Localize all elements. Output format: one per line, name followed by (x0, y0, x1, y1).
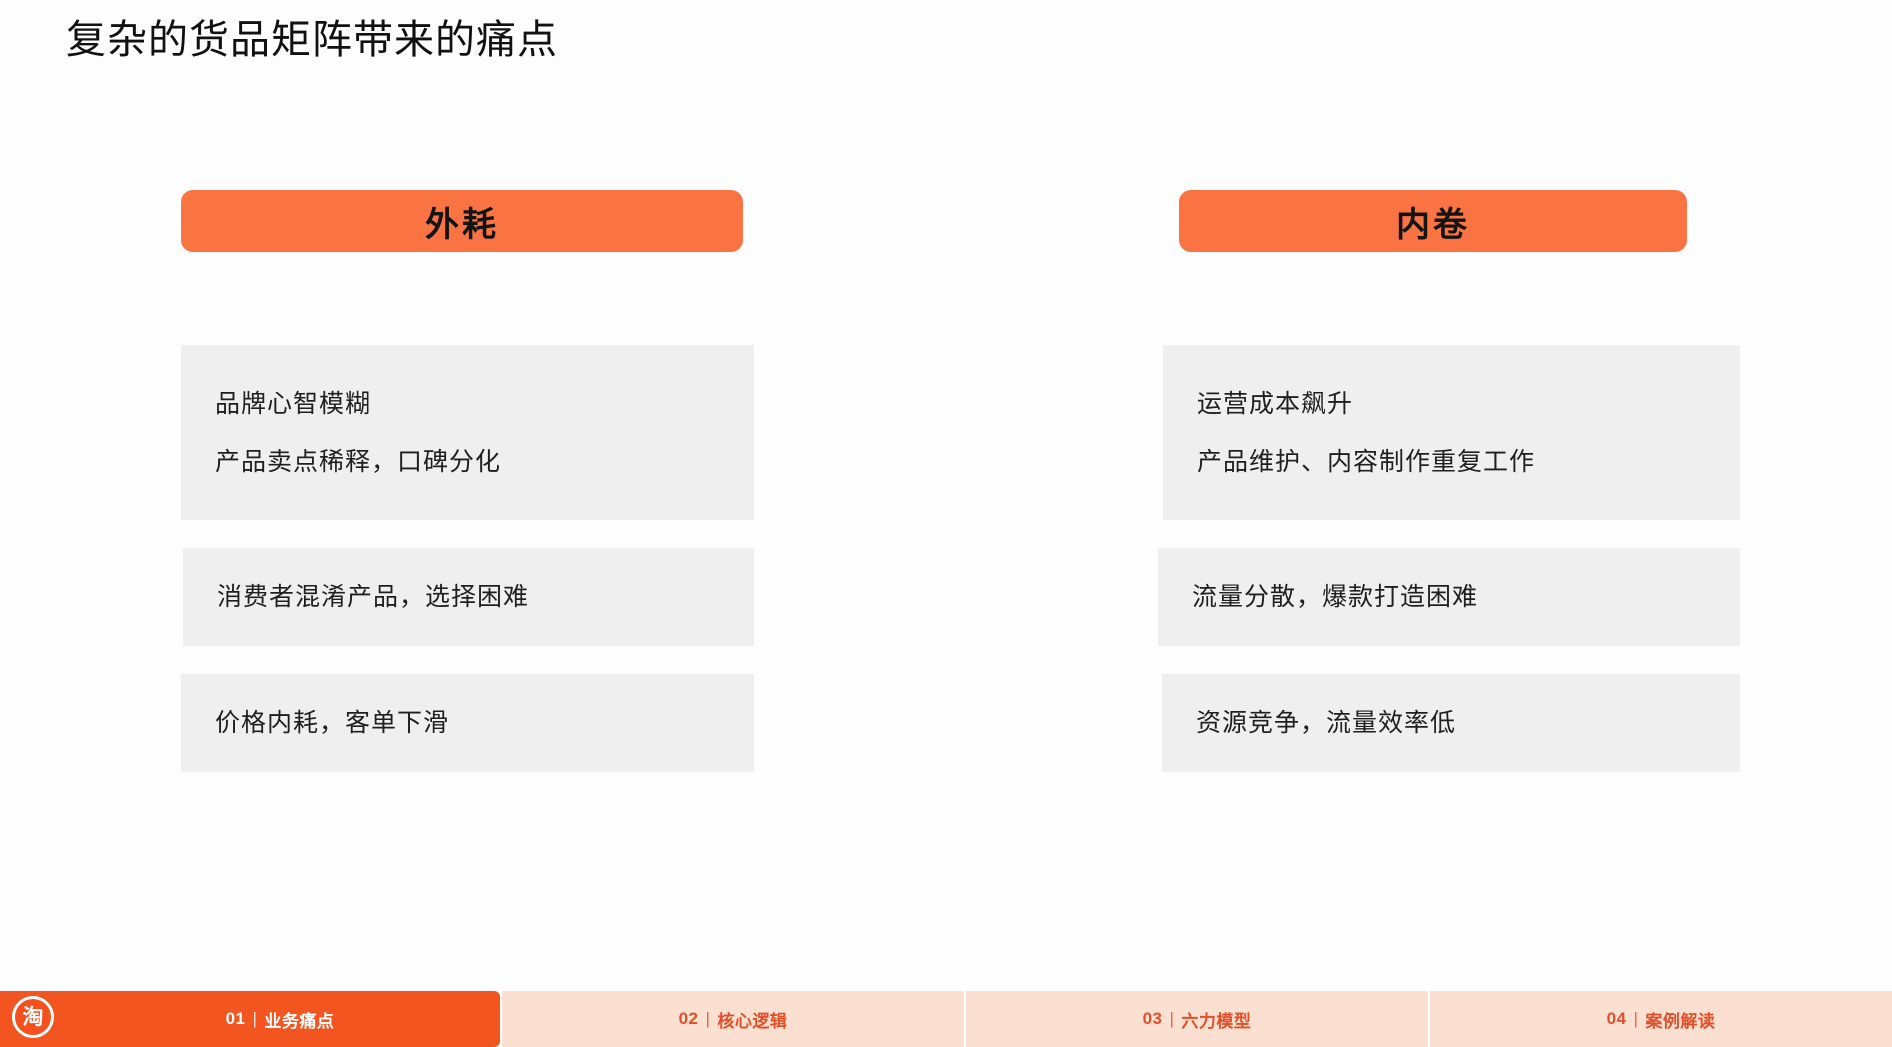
nav-item-label: 核心逻辑 (717, 1007, 787, 1032)
card-list-external: 品牌心智模糊 产品卖点稀释，口碑分化 消费者混淆产品，选择困难 价格内耗，客单下… (181, 345, 754, 800)
column-banner-label: 外耗 (425, 197, 499, 246)
pain-point-line: 产品卖点稀释，口碑分化 (215, 433, 718, 491)
pain-point-line: 流量分散，爆款打造困难 (1192, 568, 1704, 626)
nav-item-number: 02 (679, 1009, 699, 1029)
nav-item-03[interactable]: 03 | 六力模型 (964, 991, 1428, 1047)
nav-item-04[interactable]: 04 | 案例解读 (1428, 991, 1892, 1047)
taobao-logo-icon: 淘 (12, 996, 54, 1038)
pain-point-card[interactable]: 品牌心智模糊 产品卖点稀释，口碑分化 (181, 345, 754, 520)
bottom-navigation: 淘 01 | 业务痛点 02 | 核心逻辑 03 | 六力模型 04 | 案例解… (0, 991, 1892, 1047)
nav-item-separator: | (1170, 1009, 1175, 1029)
card-list-involution: 运营成本飙升 产品维护、内容制作重复工作 流量分散，爆款打造困难 资源竞争，流量… (1163, 345, 1740, 800)
pain-point-card[interactable]: 资源竞争，流量效率低 (1162, 674, 1740, 772)
nav-item-number: 04 (1607, 1009, 1627, 1029)
pain-point-line: 消费者混淆产品，选择困难 (217, 568, 718, 626)
nav-item-separator: | (253, 1009, 258, 1029)
taobao-logo-glyph: 淘 (23, 1007, 44, 1028)
pain-point-card[interactable]: 消费者混淆产品，选择困难 (183, 548, 754, 646)
pain-point-line: 品牌心智模糊 (215, 375, 718, 433)
column-banner-label: 内卷 (1396, 197, 1470, 246)
nav-item-separator: | (706, 1009, 711, 1029)
nav-item-separator: | (1634, 1009, 1639, 1029)
nav-item-label: 六力模型 (1181, 1007, 1251, 1032)
slide-canvas: 复杂的货品矩阵带来的痛点 外耗 品牌心智模糊 产品卖点稀释，口碑分化 消费者混淆… (0, 0, 1892, 1047)
pain-point-line: 资源竞争，流量效率低 (1196, 694, 1704, 752)
pain-point-card[interactable]: 流量分散，爆款打造困难 (1158, 548, 1740, 646)
nav-item-01[interactable]: 01 | 业务痛点 (0, 991, 500, 1047)
pain-point-card[interactable]: 运营成本飙升 产品维护、内容制作重复工作 (1163, 345, 1740, 520)
nav-item-number: 03 (1143, 1009, 1163, 1029)
column-involution: 内卷 运营成本飙升 产品维护、内容制作重复工作 流量分散，爆款打造困难 资源竞争… (1163, 190, 1740, 252)
column-external-drain: 外耗 品牌心智模糊 产品卖点稀释，口碑分化 消费者混淆产品，选择困难 价格内耗，… (181, 190, 754, 252)
pain-point-line: 运营成本飙升 (1197, 375, 1704, 433)
pain-point-line: 价格内耗，客单下滑 (215, 694, 718, 752)
nav-item-label: 案例解读 (1645, 1007, 1715, 1032)
page-title: 复杂的货品矩阵带来的痛点 (66, 14, 558, 66)
column-banner-external: 外耗 (181, 190, 743, 252)
nav-item-02[interactable]: 02 | 核心逻辑 (500, 991, 964, 1047)
column-banner-involution: 内卷 (1179, 190, 1687, 252)
pain-point-card[interactable]: 价格内耗，客单下滑 (181, 674, 754, 772)
nav-item-number: 01 (226, 1009, 246, 1029)
pain-point-line: 产品维护、内容制作重复工作 (1197, 433, 1704, 491)
nav-item-label: 业务痛点 (264, 1007, 334, 1032)
